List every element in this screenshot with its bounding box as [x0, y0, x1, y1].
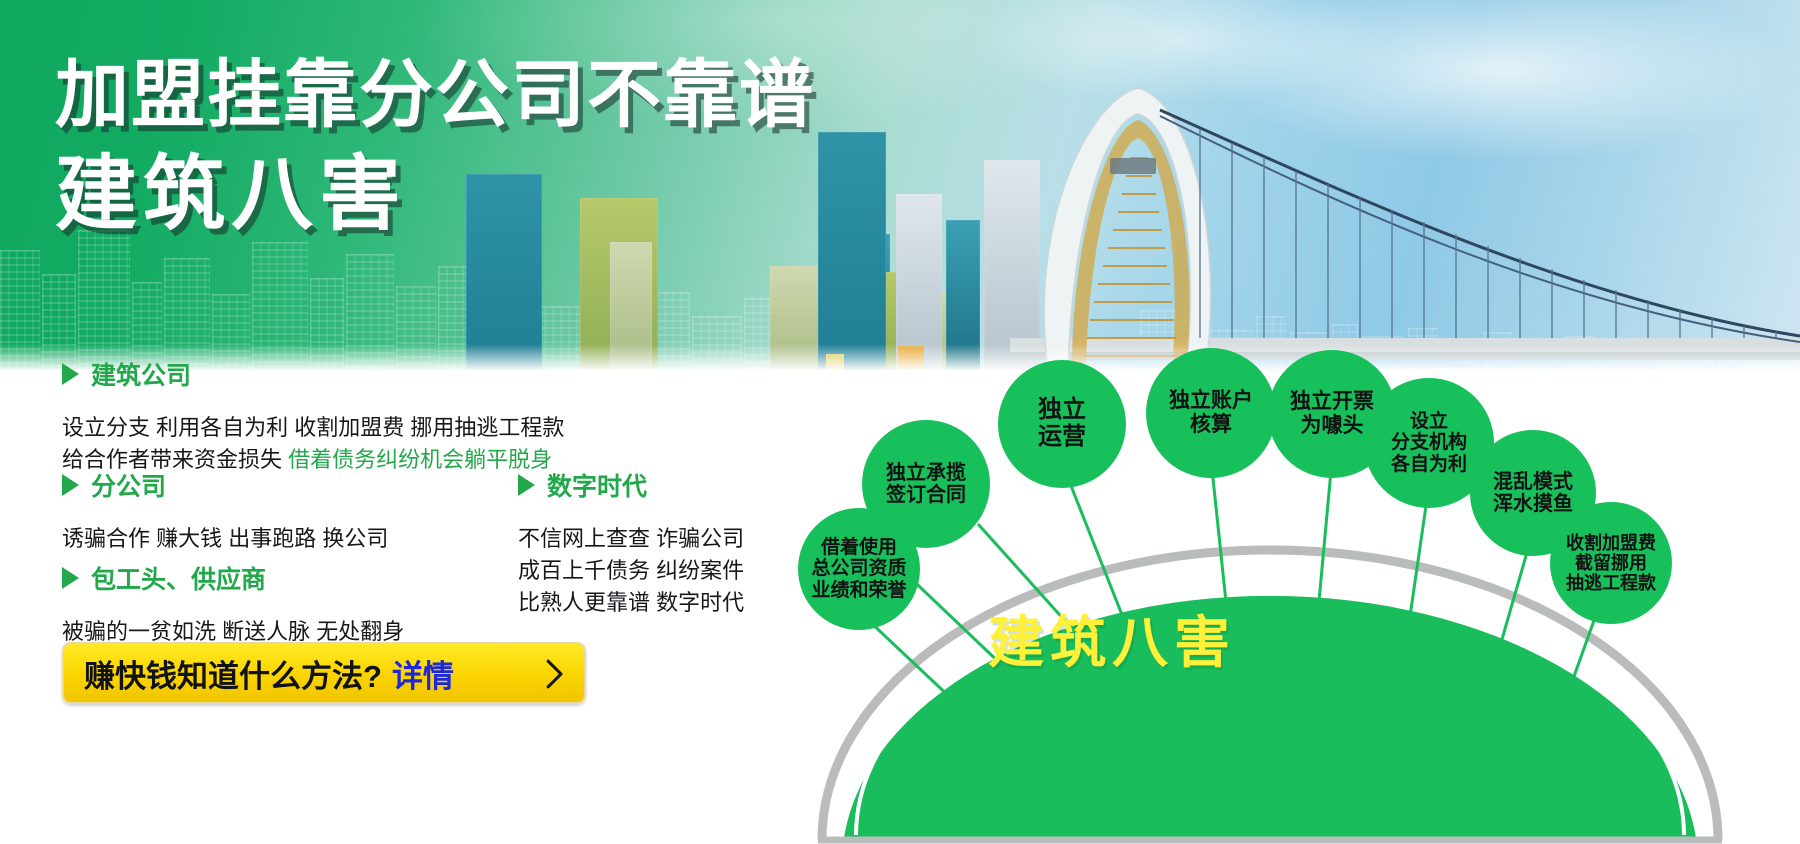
section-heading: 分公司 — [62, 467, 388, 503]
bubble-line: 各自为利 — [1391, 454, 1467, 475]
section-body: 不信网上查查 诈骗公司 成百上千债务 纠纷案件 比熟人更靠谱 数字时代 — [518, 523, 744, 619]
bubble-line: 设立 — [1410, 411, 1448, 432]
bubble-line: 运营 — [1038, 424, 1086, 451]
body-text: 设立分支 利用各自为利 收割加盟费 挪用抽逃工程款 — [62, 415, 564, 440]
bubble-line: 业绩和荣誉 — [811, 580, 906, 601]
triangle-bullet-icon — [62, 567, 79, 589]
cta-details-link[interactable]: 详情 — [392, 651, 454, 696]
bubble-line: 核算 — [1190, 413, 1232, 437]
bubble-line: 总公司资质 — [811, 558, 906, 579]
bubble-item: 收割加盟费 截留挪用 抽逃工程款 — [1550, 502, 1672, 624]
section-contractor-supplier: 包工头、供应商 被骗的一贫如洗 断送人脉 无处翻身 — [62, 560, 404, 648]
bubble-line: 独立 — [1038, 397, 1086, 424]
building-eight-harms-diagram: 借着使用 总公司资质 业绩和荣誉 独立承揽 签订合同 独立 运营 独立账户 核算… — [740, 330, 1800, 844]
triangle-bullet-icon — [62, 474, 79, 496]
cta-button[interactable]: 赚快钱知道什么方法? 详情 — [62, 642, 586, 704]
cta-label: 赚快钱知道什么方法? — [84, 651, 382, 696]
body-line: 成百上千债务 纠纷案件 — [518, 555, 744, 587]
section-heading-label: 包工头、供应商 — [91, 560, 266, 596]
left-content-column: 建筑公司 设立分支 利用各自为利 收割加盟费 挪用抽逃工程款 给合作者带来资金损… — [0, 370, 840, 844]
bubble-item: 独立承揽 签订合同 — [862, 420, 990, 548]
body-line: 诱骗合作 赚大钱 出事跑路 换公司 — [62, 523, 388, 555]
section-construction-company: 建筑公司 设立分支 利用各自为利 收割加盟费 挪用抽逃工程款 给合作者带来资金损… — [62, 356, 564, 476]
triangle-bullet-icon — [62, 363, 79, 385]
section-heading: 数字时代 — [518, 467, 744, 503]
bubble-line: 独立开票 — [1290, 390, 1374, 414]
bubble-line: 截留挪用 — [1575, 553, 1647, 573]
section-branch-company: 分公司 诱骗合作 赚大钱 出事跑路 换公司 — [62, 467, 388, 555]
page-title: 加盟挂靠分公司不靠谱 建筑八害 — [55, 58, 815, 236]
bubble-line: 分支机构 — [1391, 432, 1467, 453]
bubble-line: 借着使用 — [821, 537, 897, 558]
section-body: 诱骗合作 赚大钱 出事跑路 换公司 — [62, 523, 388, 555]
bubble-line: 抽逃工程款 — [1566, 573, 1656, 593]
section-heading: 包工头、供应商 — [62, 560, 404, 596]
body-line: 设立分支 利用各自为利 收割加盟费 挪用抽逃工程款 — [62, 412, 564, 444]
bubble-line: 为噱头 — [1301, 414, 1364, 438]
body-line: 比熟人更靠谱 数字时代 — [518, 587, 744, 619]
bubble-line: 签订合同 — [886, 484, 966, 506]
bubble-line: 收割加盟费 — [1566, 533, 1656, 553]
dome-label: 建筑八害 — [988, 598, 1236, 679]
bubble-line: 混乱模式 — [1493, 471, 1573, 493]
bubble-item: 独立 运营 — [998, 360, 1126, 488]
section-digital-era: 数字时代 不信网上查查 诈骗公司 成百上千债务 纠纷案件 比熟人更靠谱 数字时代 — [518, 467, 744, 619]
triangle-bullet-icon — [518, 474, 535, 496]
hero-banner: 加盟挂靠分公司不靠谱 建筑八害 — [0, 0, 1800, 370]
bubble-line: 独立承揽 — [886, 462, 966, 484]
bubble-line: 浑水摸鱼 — [1493, 493, 1573, 515]
section-heading-label: 建筑公司 — [91, 356, 191, 392]
headline-line-1: 加盟挂靠分公司不靠谱 — [55, 58, 815, 132]
liede-bridge — [1010, 70, 1800, 370]
section-heading: 建筑公司 — [62, 356, 564, 392]
bubble-line: 独立账户 — [1169, 389, 1253, 413]
section-heading-label: 分公司 — [91, 467, 166, 503]
body-line: 不信网上查查 诈骗公司 — [518, 523, 744, 555]
chevron-right-icon — [542, 657, 564, 689]
section-heading-label: 数字时代 — [547, 467, 647, 503]
headline-line-2: 建筑八害 — [55, 154, 815, 236]
bubble-item: 独立账户 核算 — [1146, 348, 1276, 478]
